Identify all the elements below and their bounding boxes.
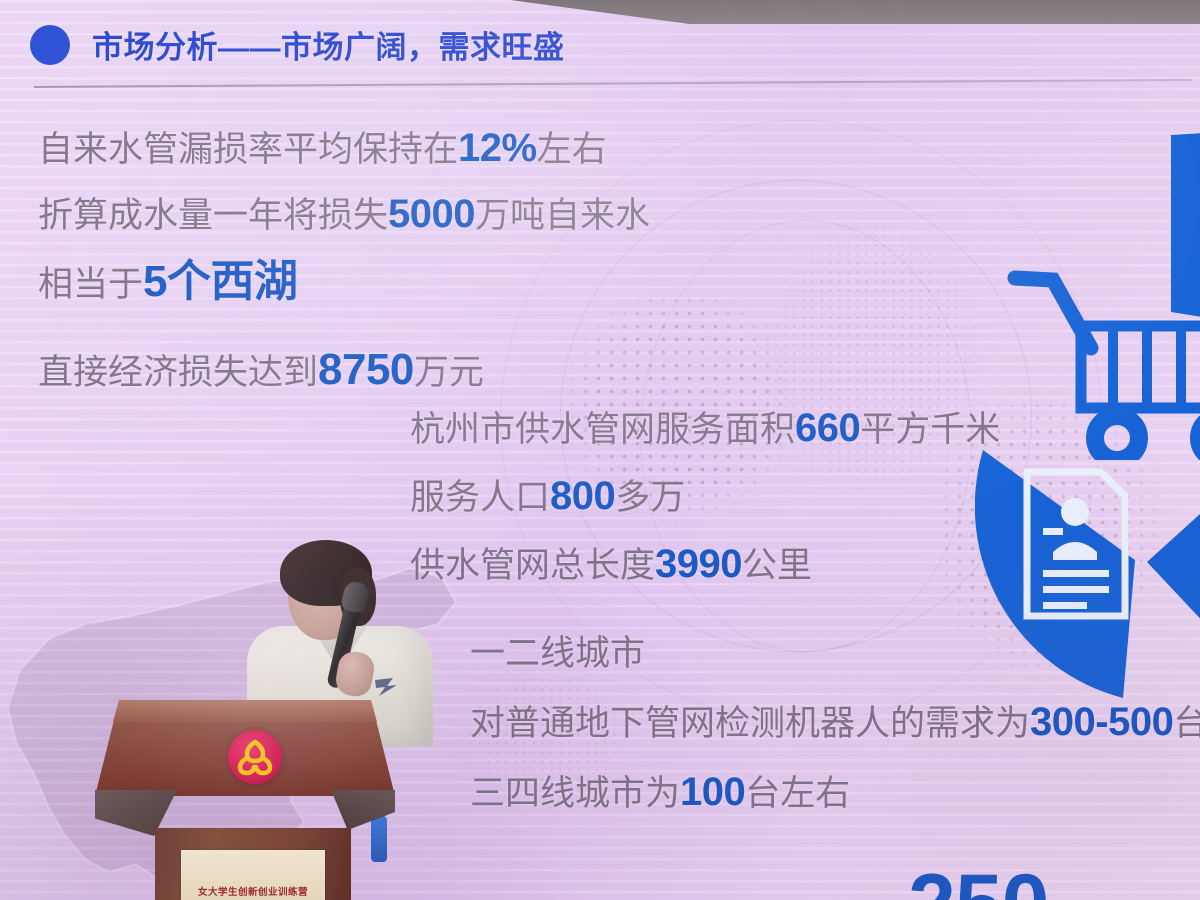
text-block-hangzhou-network: 杭州市供水管网服务面积660平方千米 服务人口800多万 供水管网总长度3990… (410, 408, 1000, 612)
line-highlight: 12% (458, 126, 537, 170)
title-divider (34, 79, 1192, 88)
text-line: 三四线城市为100台左右 (470, 772, 1200, 812)
podium-plate-text: 女大学生创新创业训练营 (181, 884, 325, 898)
lectern-podium: 女大学生创新创业训练营 (95, 700, 395, 900)
page-title: 市场分析——市场广阔，需求旺盛 (92, 22, 565, 67)
line-pre: 折算成水量一年将损失 (38, 196, 388, 235)
text-block-leakage: 自来水管漏损率平均保持在12%左右 折算成水量一年将损失5000万吨自来水 相当… (38, 128, 650, 418)
slide-title-row: 市场分析——市场广阔，需求旺盛 (30, 22, 565, 67)
text-line: 相当于5个西湖 (38, 260, 650, 304)
text-line: 自来水管漏损率平均保持在12%左右 (38, 128, 650, 168)
presentation-slide-photo: 市场分析——市场广阔，需求旺盛 自来水管漏损率平均保持在12%左右 折算成水量一… (0, 0, 1200, 900)
line-post: 左右 (537, 130, 607, 169)
line-highlight: 800 (550, 474, 615, 518)
text-line: 杭州市供水管网服务面积660平方千米 (410, 408, 1000, 448)
podium-top-surface (95, 700, 395, 722)
line-pre: 供水管网总长度 (410, 546, 655, 585)
line-pre: 直接经济损失达到 (38, 353, 318, 392)
text-line: 一二线城市 (470, 632, 1200, 672)
circle-bullet-icon (30, 25, 70, 65)
text-line: 服务人口800多万 (410, 476, 1000, 516)
text-line: 折算成水量一年将损失5000万吨自来水 (38, 194, 650, 234)
line-highlight: 660 (795, 406, 860, 450)
line-post: 多万 (615, 478, 685, 517)
screen-edge-shadow (510, 0, 1200, 24)
shirt-logo-icon (373, 676, 407, 698)
line-post: 平方千米 (860, 410, 1000, 449)
big-statistic-number: 250 (908, 862, 1049, 900)
line-highlight: 100 (680, 770, 745, 814)
line-pre: 对普通地下管网检测机器人的需求为 (470, 704, 1030, 743)
line-pre: 服务人口 (410, 478, 550, 517)
line-pre: 自来水管漏损率平均保持在 (38, 130, 458, 169)
line-highlight: 5个西湖 (143, 257, 297, 306)
line-pre: 相当于 (38, 265, 143, 304)
line-highlight: 3990 (655, 542, 742, 586)
line-post: 公里 (742, 546, 812, 585)
text-line: 供水管网总长度3990公里 (410, 544, 1000, 584)
id-document-icon (1027, 472, 1125, 616)
line-highlight: 5000 (388, 192, 475, 236)
womens-federation-emblem (228, 730, 282, 784)
line-pre: 一二线城市 (470, 634, 645, 673)
text-block-city-demand: 一二线城市 对普通地下管网检测机器人的需求为300-500台 三四线城市为100… (470, 632, 1200, 842)
line-post: 台左右 (745, 774, 850, 813)
line-post: 万元 (414, 353, 484, 392)
line-highlight: 300-500 (1030, 700, 1173, 744)
line-highlight: 8750 (318, 345, 414, 394)
podium-name-plate: 女大学生创新创业训练营 (181, 850, 325, 900)
text-line: 直接经济损失达到8750万元 (38, 348, 650, 392)
line-post: 台 (1173, 704, 1200, 743)
text-line: 对普通地下管网检测机器人的需求为300-500台 (470, 702, 1200, 742)
line-pre: 杭州市供水管网服务面积 (410, 410, 795, 449)
podium-right-side (331, 790, 395, 830)
line-pre: 三四线城市为 (470, 774, 680, 813)
line-post: 万吨自来水 (475, 196, 650, 235)
